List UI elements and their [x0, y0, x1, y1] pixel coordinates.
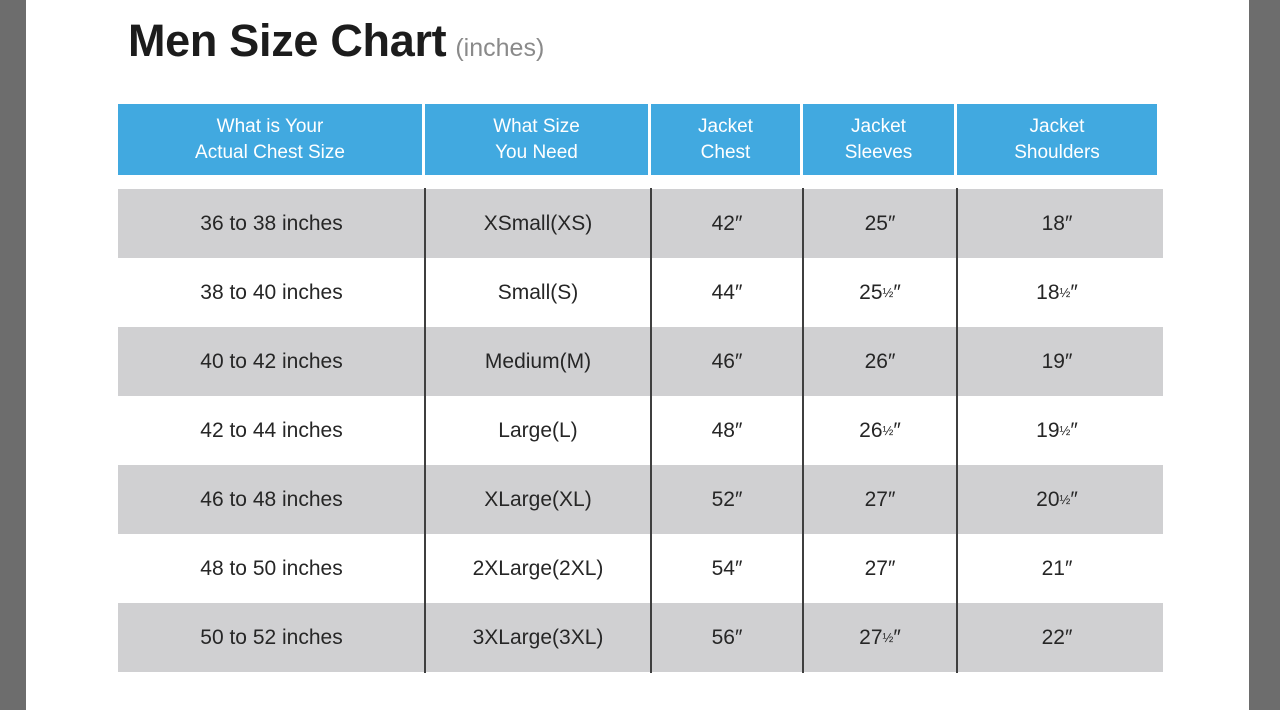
table-row: 40 to 42 inchesMedium(M)46″26″19″	[118, 327, 1163, 396]
letterbox-band-right	[1249, 0, 1280, 710]
cell-jacket-sleeves: 27½″	[803, 603, 957, 672]
letterbox-band-left	[0, 0, 26, 710]
cell-chest-range: 42 to 44 inches	[118, 396, 425, 465]
cell-jacket-sleeves: 25½″	[803, 258, 957, 327]
cell-jacket-sleeves: 26½″	[803, 396, 957, 465]
cell-jacket-shoulders: 19″	[957, 327, 1157, 396]
column-header-3: JacketSleeves	[803, 104, 954, 175]
cell-chest-range: 38 to 40 inches	[118, 258, 425, 327]
cell-chest-range: 40 to 42 inches	[118, 327, 425, 396]
column-header-line1: Jacket	[1030, 114, 1085, 140]
cell-chest-range: 36 to 38 inches	[118, 189, 425, 258]
table-row: 50 to 52 inches3XLarge(3XL)56″27½″22″	[118, 603, 1163, 672]
column-header-line1: What is Your	[217, 114, 324, 140]
column-header-line2: Actual Chest Size	[195, 140, 345, 166]
cell-size: Small(S)	[425, 258, 651, 327]
cell-size: Large(L)	[425, 396, 651, 465]
table-row: 38 to 40 inchesSmall(S)44″25½″18½″	[118, 258, 1163, 327]
cell-jacket-chest: 54″	[651, 534, 803, 603]
table-row: 42 to 44 inchesLarge(L)48″26½″19½″	[118, 396, 1163, 465]
cell-jacket-sleeves: 27″	[803, 465, 957, 534]
cell-jacket-shoulders: 19½″	[957, 396, 1157, 465]
column-header-1: What SizeYou Need	[425, 104, 648, 175]
column-header-line2: You Need	[495, 140, 578, 166]
cell-jacket-chest: 42″	[651, 189, 803, 258]
half-fraction: ½	[883, 423, 894, 438]
half-fraction: ½	[1060, 492, 1071, 507]
table-row: 46 to 48 inchesXLarge(XL)52″27″20½″	[118, 465, 1163, 534]
cell-chest-range: 48 to 50 inches	[118, 534, 425, 603]
half-fraction: ½	[1060, 285, 1071, 300]
cell-jacket-shoulders: 18½″	[957, 258, 1157, 327]
table-row: 48 to 50 inches2XLarge(2XL)54″27″21″	[118, 534, 1163, 603]
cell-jacket-chest: 46″	[651, 327, 803, 396]
column-header-0: What is YourActual Chest Size	[118, 104, 422, 175]
cell-size: XSmall(XS)	[425, 189, 651, 258]
cell-jacket-sleeves: 25″	[803, 189, 957, 258]
page-title-unit: (inches)	[455, 36, 544, 61]
cell-jacket-chest: 48″	[651, 396, 803, 465]
cell-size: Medium(M)	[425, 327, 651, 396]
half-fraction: ½	[883, 285, 894, 300]
table-body: 36 to 38 inchesXSmall(XS)42″25″18″38 to …	[118, 189, 1163, 672]
cell-jacket-chest: 44″	[651, 258, 803, 327]
cell-jacket-shoulders: 22″	[957, 603, 1157, 672]
cell-jacket-chest: 56″	[651, 603, 803, 672]
cell-size: 2XLarge(2XL)	[425, 534, 651, 603]
cell-jacket-shoulders: 20½″	[957, 465, 1157, 534]
column-header-line2: Chest	[701, 140, 751, 166]
table-header-row: What is YourActual Chest SizeWhat SizeYo…	[118, 104, 1163, 175]
half-fraction: ½	[1060, 423, 1071, 438]
page-title: Men Size Chart (inches)	[128, 18, 544, 63]
cell-jacket-chest: 52″	[651, 465, 803, 534]
cell-jacket-sleeves: 26″	[803, 327, 957, 396]
cell-jacket-shoulders: 18″	[957, 189, 1157, 258]
table-row: 36 to 38 inchesXSmall(XS)42″25″18″	[118, 189, 1163, 258]
cell-size: 3XLarge(3XL)	[425, 603, 651, 672]
column-header-line1: Jacket	[851, 114, 906, 140]
column-header-line1: Jacket	[698, 114, 753, 140]
column-header-line2: Shoulders	[1014, 140, 1100, 166]
cell-jacket-sleeves: 27″	[803, 534, 957, 603]
column-header-2: JacketChest	[651, 104, 800, 175]
cell-jacket-shoulders: 21″	[957, 534, 1157, 603]
size-chart-table: What is YourActual Chest SizeWhat SizeYo…	[118, 104, 1163, 672]
column-header-4: JacketShoulders	[957, 104, 1157, 175]
cell-chest-range: 50 to 52 inches	[118, 603, 425, 672]
page-title-main: Men Size Chart	[128, 18, 446, 63]
cell-chest-range: 46 to 48 inches	[118, 465, 425, 534]
column-header-line2: Sleeves	[845, 140, 913, 166]
cell-size: XLarge(XL)	[425, 465, 651, 534]
size-chart-page: Men Size Chart (inches) What is YourActu…	[26, 0, 1249, 710]
half-fraction: ½	[883, 630, 894, 645]
column-header-line1: What Size	[493, 114, 580, 140]
